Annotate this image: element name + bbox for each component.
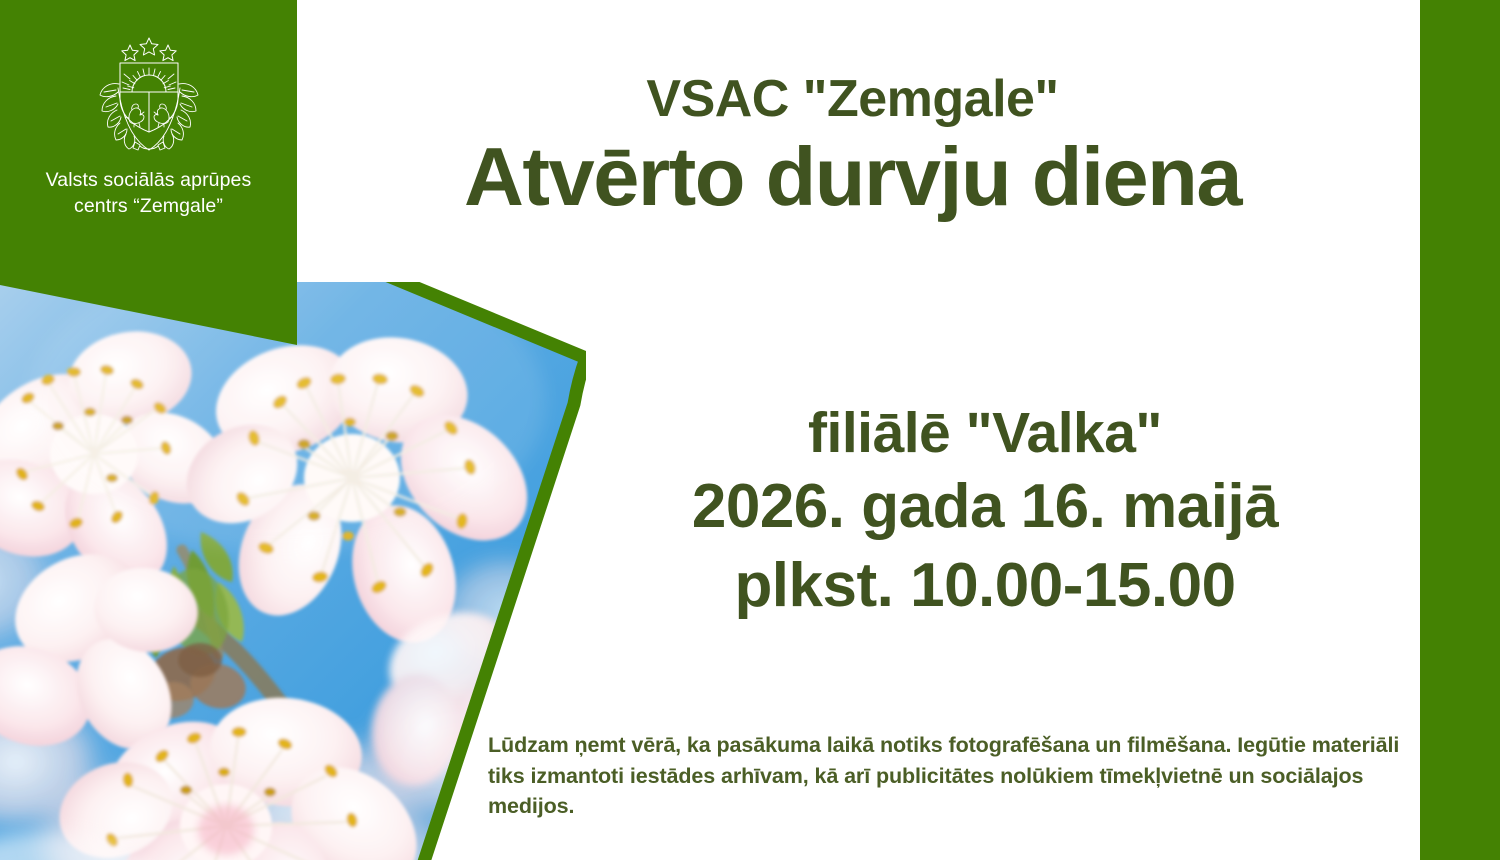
event-time: plkst. 10.00-15.00 — [575, 548, 1395, 624]
poster-canvas: Valsts sociālās aprūpes centrs “Zemgale”… — [0, 0, 1500, 860]
brand-panel: Valsts sociālās aprūpes centrs “Zemgale” — [0, 0, 297, 345]
organisation-line-1: Valsts sociālās aprūpes — [14, 168, 283, 194]
event-details-block: filiālē "Valka" 2026. gada 16. maijā plk… — [575, 400, 1395, 624]
organisation-line-2: centrs “Zemgale” — [14, 194, 283, 220]
headline-block: VSAC "Zemgale" Atvērto durvju diena — [300, 72, 1405, 224]
photo-consent-notice: Lūdzam ņemt vērā, ka pasākuma laikā noti… — [488, 730, 1413, 822]
branch-name: filiālē "Valka" — [575, 400, 1395, 466]
kicker-text: VSAC "Zemgale" — [300, 72, 1405, 127]
event-date: 2026. gada 16. maijā — [575, 466, 1395, 548]
right-edge-green-stripe — [1420, 0, 1500, 860]
latvian-coat-of-arms-icon — [90, 30, 208, 158]
page-title: Atvērto durvju diena — [300, 131, 1405, 224]
organisation-name: Valsts sociālās aprūpes centrs “Zemgale” — [0, 168, 297, 219]
